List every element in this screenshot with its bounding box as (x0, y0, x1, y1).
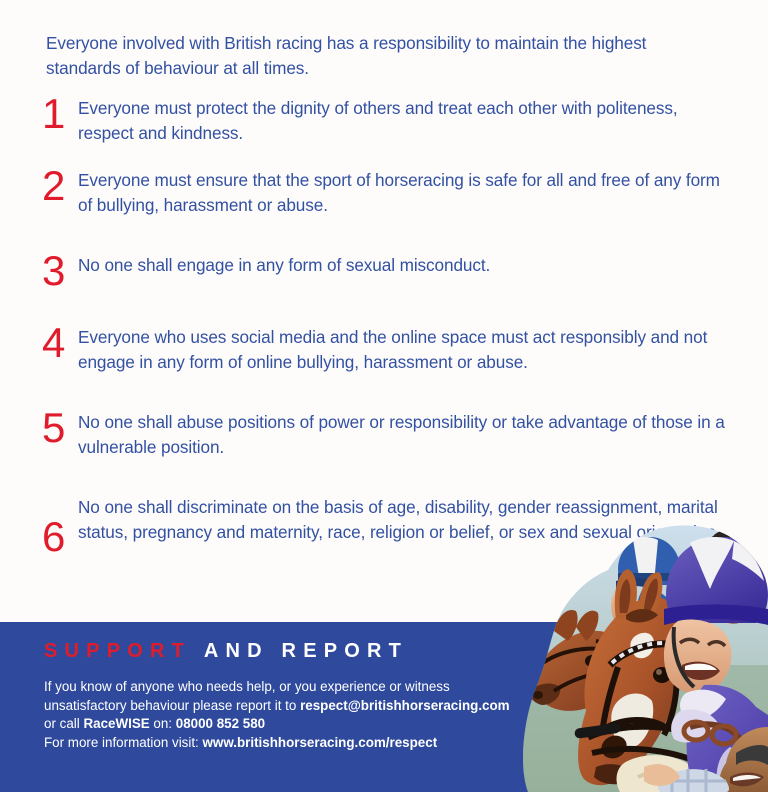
rule-number: 5 (36, 406, 78, 448)
racewise-brand: RaceWISE (83, 716, 149, 731)
footer-heading-support: SUPPORT (44, 640, 191, 662)
racewise-phone-number[interactable]: 08000 852 580 (176, 716, 265, 731)
rules-list: 1 Everyone must protect the dignity of o… (36, 92, 736, 601)
footer-line-3-mid: on: (150, 716, 176, 731)
intro-paragraph: Everyone involved with British racing ha… (46, 31, 686, 81)
footer-line-1: If you know of anyone who needs help, or… (44, 678, 564, 697)
footer-line-3-prefix: or call (44, 716, 83, 731)
rule-number: 3 (36, 249, 78, 291)
report-email-link[interactable]: respect@britishhorseracing.com (300, 698, 510, 713)
rule-item: 5 No one shall abuse positions of power … (36, 406, 736, 491)
rule-text: Everyone who uses social media and the o… (78, 321, 736, 375)
website-url-link[interactable]: www.britishhorseracing.com/respect (203, 735, 438, 750)
rule-number: 4 (36, 321, 78, 363)
rule-item: 2 Everyone must ensure that the sport of… (36, 164, 736, 249)
rule-item: 3 No one shall engage in any form of sex… (36, 249, 736, 321)
rule-item: 6 No one shall discriminate on the basis… (36, 491, 736, 601)
support-and-report-band: SUPPORT AND REPORT If you know of anyone… (0, 622, 768, 792)
rule-item: 1 Everyone must protect the dignity of o… (36, 92, 736, 164)
rule-number: 2 (36, 164, 78, 206)
rule-text: Everyone must protect the dignity of oth… (78, 92, 736, 146)
footer-line-3: or call RaceWISE on: 08000 852 580 (44, 715, 564, 734)
footer-body: If you know of anyone who needs help, or… (44, 678, 564, 752)
footer-line-2: unsatisfactory behaviour please report i… (44, 697, 564, 716)
footer-heading-and-report: AND REPORT (204, 640, 408, 662)
footer-line-4-prefix: For more information visit: (44, 735, 203, 750)
rule-number: 6 (36, 491, 78, 557)
rule-text: No one shall discriminate on the basis o… (78, 491, 736, 545)
footer-heading: SUPPORT AND REPORT (44, 640, 408, 663)
footer-line-2-prefix: unsatisfactory behaviour please report i… (44, 698, 300, 713)
rule-number: 1 (36, 92, 78, 134)
rule-text: Everyone must ensure that the sport of h… (78, 164, 736, 218)
poster-page: Everyone involved with British racing ha… (0, 0, 768, 792)
rule-text: No one shall abuse positions of power or… (78, 406, 736, 460)
rule-item: 4 Everyone who uses social media and the… (36, 321, 736, 406)
rule-text: No one shall engage in any form of sexua… (78, 249, 736, 278)
footer-line-4: For more information visit: www.britishh… (44, 734, 564, 753)
